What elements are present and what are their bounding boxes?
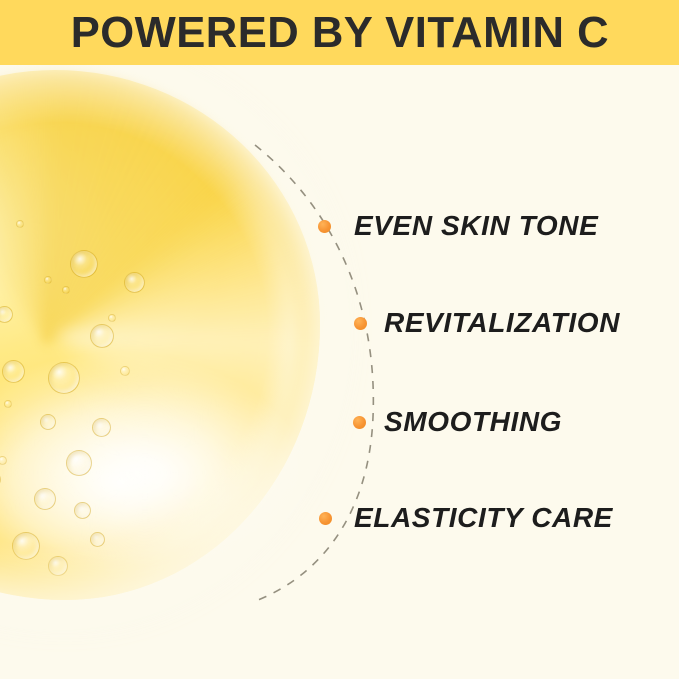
serum-drop-graphic (0, 70, 320, 600)
bullet-dot-elasticity-care (319, 512, 332, 525)
content-area: EVEN SKIN TONE REVITALIZATION SMOOTHING … (0, 65, 679, 679)
product-benefits-poster: POWERED BY VITAMIN C (0, 0, 679, 679)
benefit-label-elasticity-care: ELASTICITY CARE (354, 504, 613, 532)
benefit-label-smoothing: SMOOTHING (384, 408, 562, 436)
page-title: POWERED BY VITAMIN C (70, 11, 608, 55)
serum-drop-body (0, 70, 320, 600)
header-banner: POWERED BY VITAMIN C (0, 0, 679, 65)
bullet-dot-smoothing (353, 416, 366, 429)
bullet-dot-even-skin-tone (318, 220, 331, 233)
benefit-label-revitalization: REVITALIZATION (384, 309, 620, 337)
benefit-label-even-skin-tone: EVEN SKIN TONE (354, 212, 598, 240)
bullet-dot-revitalization (354, 317, 367, 330)
